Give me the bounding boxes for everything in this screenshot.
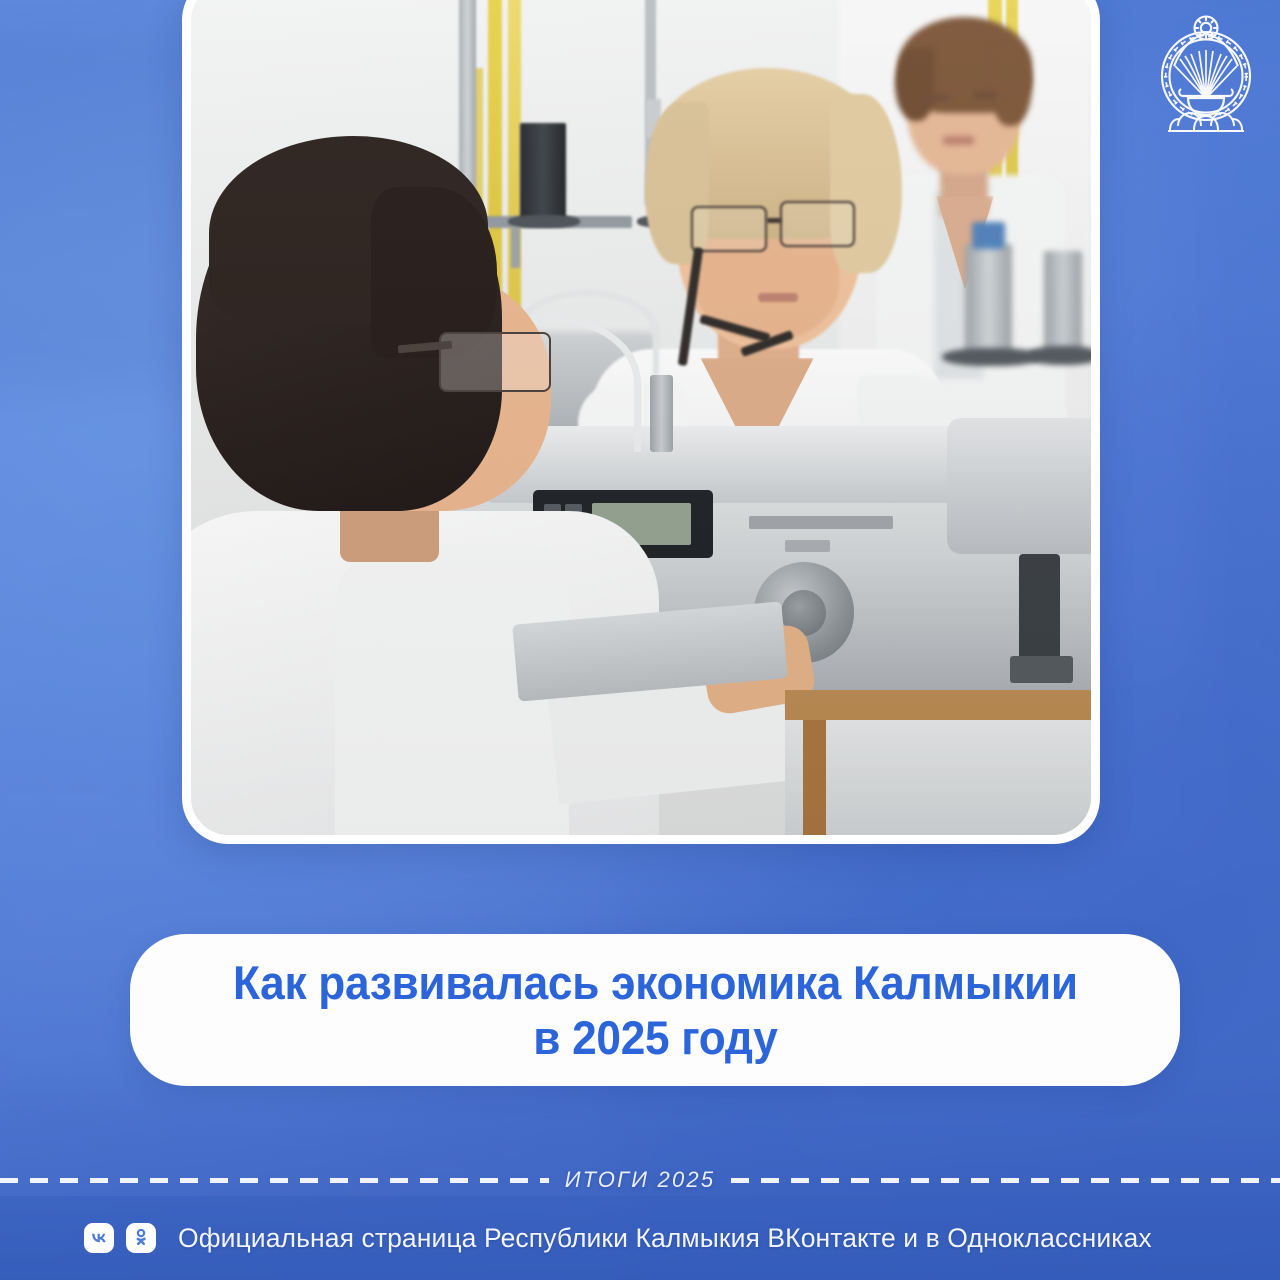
vk-icon[interactable] [84, 1223, 114, 1253]
headline-card: Как развивалась экономика Калмыкии в 202… [130, 934, 1180, 1086]
ok-icon[interactable] [126, 1223, 156, 1253]
divider-label: ИТОГИ 2025 [549, 1167, 732, 1193]
section-divider: ИТОГИ 2025 [0, 1163, 1280, 1197]
poster: Как развивалась экономика Калмыкии в 202… [0, 0, 1280, 1280]
kalmykia-coat-of-arms-icon [1152, 14, 1260, 140]
photo-card [182, 0, 1100, 844]
footer-text: Официальная страница Республики Калмыкия… [178, 1223, 1152, 1254]
page-title: Как развивалась экономика Калмыкии в 202… [195, 955, 1115, 1066]
workshop-photo [191, 0, 1091, 835]
divider-dash-right [731, 1178, 1280, 1183]
divider-dash-left [0, 1178, 549, 1183]
footer-bar: Официальная страница Республики Калмыкия… [0, 1196, 1280, 1280]
